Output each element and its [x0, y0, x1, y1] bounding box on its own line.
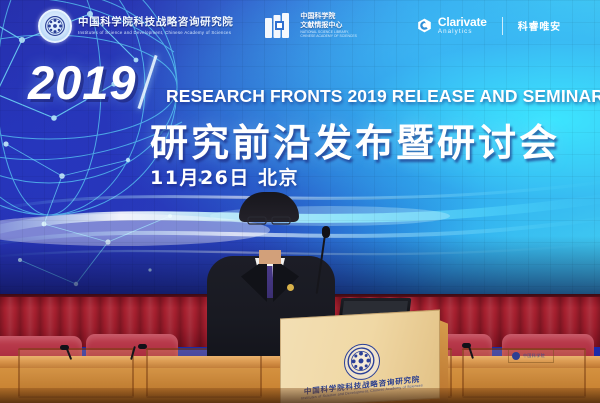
event-title-chinese: 研究前沿发布暨研讨会: [150, 112, 560, 167]
desk-nameplate: 中国科学院: [508, 349, 554, 363]
speaker-lapel-pin: [287, 284, 294, 291]
cas-seal-icon: [512, 352, 520, 360]
podium-microphone-head: [322, 226, 330, 238]
logo-clarivate-text: Clarivate Analytics: [438, 16, 487, 35]
logo-nsl-text: 中国科学院 文献情报中心 NATIONAL SCIENCE LIBRARY, C…: [300, 13, 356, 38]
logo-divider: [502, 17, 503, 35]
desk-microphone-head: [138, 344, 147, 349]
logo-nsl-en-line2: CHINESE ACADEMY OF SCIENCES: [300, 34, 356, 38]
cas-seal-icon: [344, 343, 380, 381]
logo-cas-isd-text: 中国科学院科技战略咨询研究院 Institutes of Science and…: [78, 17, 233, 35]
logo-nsl-cn-line2: 文献情报中心: [300, 22, 356, 30]
cas-seal-icon: [38, 9, 72, 43]
logo-clarivate-subtitle: Analytics: [438, 29, 487, 35]
conference-photo: 中国科学院科技战略咨询研究院 Institutes of Science and…: [0, 0, 600, 403]
logo-clarivate: Clarivate Analytics 科睿唯安: [417, 16, 561, 35]
desk-nameplate-text: 中国科学院: [523, 353, 545, 359]
logo-nsl-cas: 中国科学院 文献情报中心 NATIONAL SCIENCE LIBRARY, C…: [265, 13, 356, 39]
logo-cas-isd-cn: 中国科学院科技战略咨询研究院: [78, 17, 233, 28]
logo-clarivate-name: Clarivate: [438, 16, 487, 28]
desk-microphone-head: [60, 345, 69, 350]
logo-clarivate-cn: 科睿唯安: [518, 18, 561, 33]
event-title-english: RESEARCH FRONTS 2019 RELEASE AND SEMINAR: [166, 86, 600, 107]
event-date-location: 11月26日 北京: [150, 163, 299, 190]
nsl-library-mark-icon: [265, 13, 295, 39]
logo-nsl-cn-line1: 中国科学院: [300, 13, 356, 21]
sponsor-logo-bar: 中国科学院科技战略咨询研究院 Institutes of Science and…: [0, 0, 600, 52]
logo-cas-isd: 中国科学院科技战略咨询研究院 Institutes of Science and…: [38, 9, 233, 43]
desk-microphone-head: [462, 343, 471, 348]
clarivate-shield-icon: [417, 18, 432, 33]
foreground-shadow: [0, 388, 600, 403]
logo-cas-isd-en: Institutes of Science and Development, C…: [78, 30, 233, 35]
eyeglasses-icon: [247, 216, 291, 225]
event-year: 2019: [28, 55, 137, 110]
